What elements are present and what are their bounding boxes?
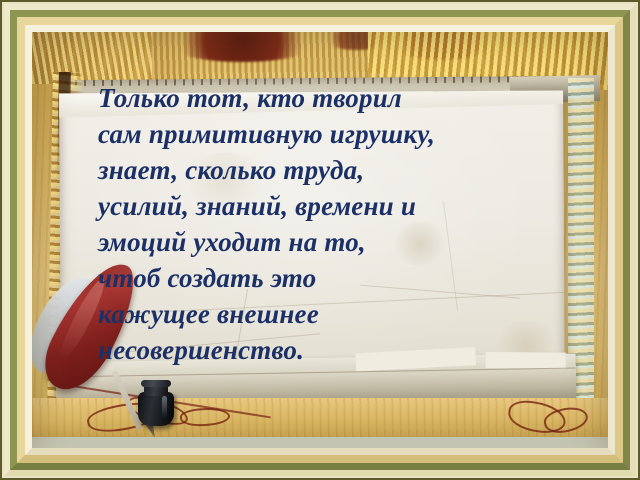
inkwell-body [138,392,174,426]
quote-slide: Только тот, кто творил сам примитивную и… [0,0,640,480]
inkwell-icon [136,380,176,428]
quote-line: эмоций уходит на то, [98,224,538,260]
quote-line: чтоб создать это [98,260,538,296]
quote-line: несовершенство. [98,332,538,368]
quote-line: Только тот, кто творил [98,80,538,116]
gilded-page-edge-left [32,32,152,84]
red-blotch [162,32,322,62]
quote-line: сам примитивную игрушку, [98,116,538,152]
quote-text-block: Только тот, кто творил сам примитивную и… [98,80,538,368]
inkwell-lip [141,380,171,387]
quote-line: знает, сколько труда, [98,152,538,188]
quote-line: кажущее внешнее [98,296,538,332]
inkwell-highlight [162,396,167,418]
photo-artwork: Только тот, кто творил сам примитивную и… [32,32,608,448]
quote-line: усилий, знаний, времени и [98,188,538,224]
